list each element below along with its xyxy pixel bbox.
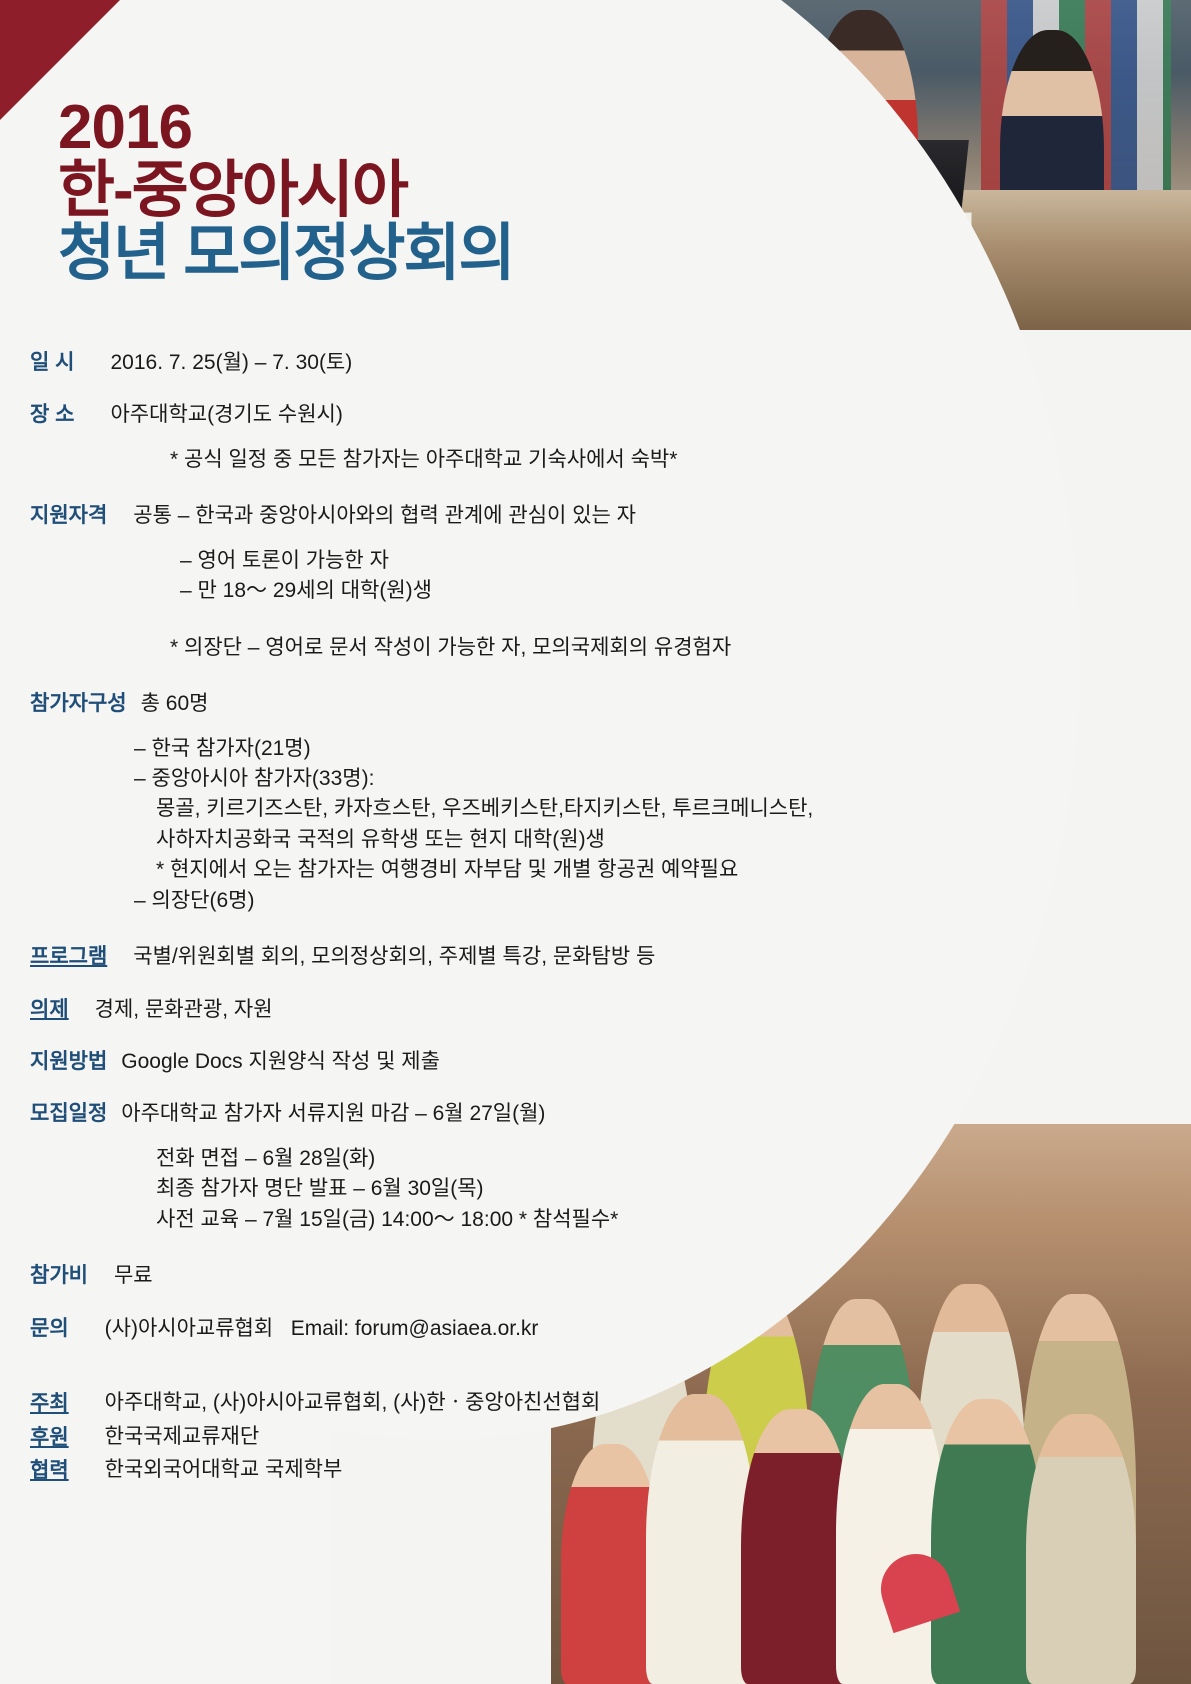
detail-row-agenda: 의제 경제, 문화관광, 자원 xyxy=(30,995,1080,1025)
value-eligibility-3: – 만 18〜 29세의 대학(원)생 xyxy=(30,576,1080,606)
detail-row-host: 주최 아주대학교, (사)아시아교류협회, (사)한ㆍ중앙아친선협회 xyxy=(30,1388,1080,1420)
detail-row-fee: 참가비 무료 xyxy=(30,1261,1080,1291)
value-venue: 아주대학교(경기도 수원시) xyxy=(110,400,342,430)
value-composition-total: 총 60명 xyxy=(141,689,209,719)
value-recruitment-1: 아주대학교 참가자 서류지원 마감 – 6월 27일(월) xyxy=(121,1099,545,1129)
organizers-block: 주최 아주대학교, (사)아시아교류협회, (사)한ㆍ중앙아친선협회 후원 한국… xyxy=(30,1388,1080,1487)
value-composition-2: – 중앙아시아 참가자(33명): xyxy=(30,764,1080,794)
value-agenda: 경제, 문화관광, 자원 xyxy=(95,995,273,1025)
title-year: 2016 xyxy=(58,96,514,159)
value-recruitment-2: 전화 면접 – 6월 28일(화) xyxy=(30,1144,1080,1174)
detail-row-cooperation: 협력 한국외국어대학교 국제학부 xyxy=(30,1455,1080,1487)
title-line-1: 한-중앙아시아 xyxy=(58,159,514,222)
value-recruitment-4: 사전 교육 – 7월 15일(금) 14:00〜 18:00 * 참석필수* xyxy=(30,1205,1080,1235)
detail-row-venue: 장 소 아주대학교(경기도 수원시) xyxy=(30,400,1080,430)
note-composition: * 현지에서 오는 참가자는 여행경비 자부담 및 개별 항공권 예약필요 xyxy=(30,855,1080,885)
value-composition-4: 사하자치공화국 국적의 유학생 또는 현지 대학(원)생 xyxy=(30,825,1080,855)
value-fee: 무료 xyxy=(114,1261,153,1291)
page-title: 2016 한-중앙아시아 청년 모의정상회의 xyxy=(58,96,514,286)
value-cooperation: 한국외국어대학교 국제학부 xyxy=(105,1455,343,1485)
detail-row-date: 일 시 2016. 7. 25(월) – 7. 30(토) xyxy=(30,348,1080,378)
label-eligibility: 지원자격 xyxy=(30,501,107,531)
detail-row-eligibility: 지원자격 공통 – 한국과 중앙아시아와의 협력 관계에 관심이 있는 자 xyxy=(30,501,1080,531)
detail-row-recruitment: 모집일정 아주대학교 참가자 서류지원 마감 – 6월 27일(월) xyxy=(30,1099,1080,1129)
label-date: 일 시 xyxy=(30,348,74,378)
label-program: 프로그램 xyxy=(30,942,107,972)
value-inquiry: (사)아시아교류협회 Email: forum@asiaea.or.kr xyxy=(105,1314,539,1344)
value-sponsor: 한국국제교류재단 xyxy=(105,1422,260,1452)
detail-row-composition: 참가자구성 총 60명 xyxy=(30,689,1080,719)
detail-row-program: 프로그램 국별/위원회별 회의, 모의정상회의, 주제별 특강, 문화탐방 등 xyxy=(30,942,1080,972)
label-sponsor: 후원 xyxy=(30,1422,69,1454)
value-date: 2016. 7. 25(월) – 7. 30(토) xyxy=(110,348,352,378)
detail-row-sponsor: 후원 한국국제교류재단 xyxy=(30,1422,1080,1454)
label-cooperation: 협력 xyxy=(30,1455,69,1487)
label-how-to-apply: 지원방법 xyxy=(30,1047,107,1077)
value-composition-1: – 한국 참가자(21명) xyxy=(30,734,1080,764)
label-inquiry: 문의 xyxy=(30,1314,69,1344)
note-eligibility: * 의장단 – 영어로 문서 작성이 가능한 자, 모의국제회의 유경험자 xyxy=(30,633,1080,663)
title-line-2: 청년 모의정상회의 xyxy=(58,222,514,285)
label-host: 주최 xyxy=(30,1388,69,1420)
detail-row-how-to-apply: 지원방법 Google Docs 지원양식 작성 및 제출 xyxy=(30,1047,1080,1077)
value-eligibility-2: – 영어 토론이 가능한 자 xyxy=(30,546,1080,576)
value-eligibility-1: 공통 – 한국과 중앙아시아와의 협력 관계에 관심이 있는 자 xyxy=(133,501,636,531)
label-agenda: 의제 xyxy=(30,995,69,1025)
label-fee: 참가비 xyxy=(30,1261,88,1291)
value-program: 국별/위원회별 회의, 모의정상회의, 주제별 특강, 문화탐방 등 xyxy=(133,942,655,972)
value-composition-5: – 의장단(6명) xyxy=(30,886,1080,916)
label-venue: 장 소 xyxy=(30,400,74,430)
note-venue: * 공식 일정 중 모든 참가자는 아주대학교 기숙사에서 숙박* xyxy=(30,445,1080,475)
value-how-to-apply: Google Docs 지원양식 작성 및 제출 xyxy=(121,1047,440,1077)
event-poster: CHAIRPERSON 2016 한-중앙아시아 청년 모의정상회의 일 시 xyxy=(0,0,1191,1684)
value-composition-3: 몽골, 키르기즈스탄, 카자흐스탄, 우즈베키스탄,타지키스탄, 투르크메니스탄… xyxy=(30,794,1080,824)
value-host: 아주대학교, (사)아시아교류협회, (사)한ㆍ중앙아친선협회 xyxy=(105,1388,601,1418)
label-composition: 참가자구성 xyxy=(30,689,127,719)
value-recruitment-3: 최종 참가자 명단 발표 – 6월 30일(목) xyxy=(30,1174,1080,1204)
poster-details: 일 시 2016. 7. 25(월) – 7. 30(토) 장 소 아주대학교(… xyxy=(30,348,1080,1489)
label-recruitment: 모집일정 xyxy=(30,1099,107,1129)
detail-row-inquiry: 문의 (사)아시아교류협회 Email: forum@asiaea.or.kr xyxy=(30,1314,1080,1344)
